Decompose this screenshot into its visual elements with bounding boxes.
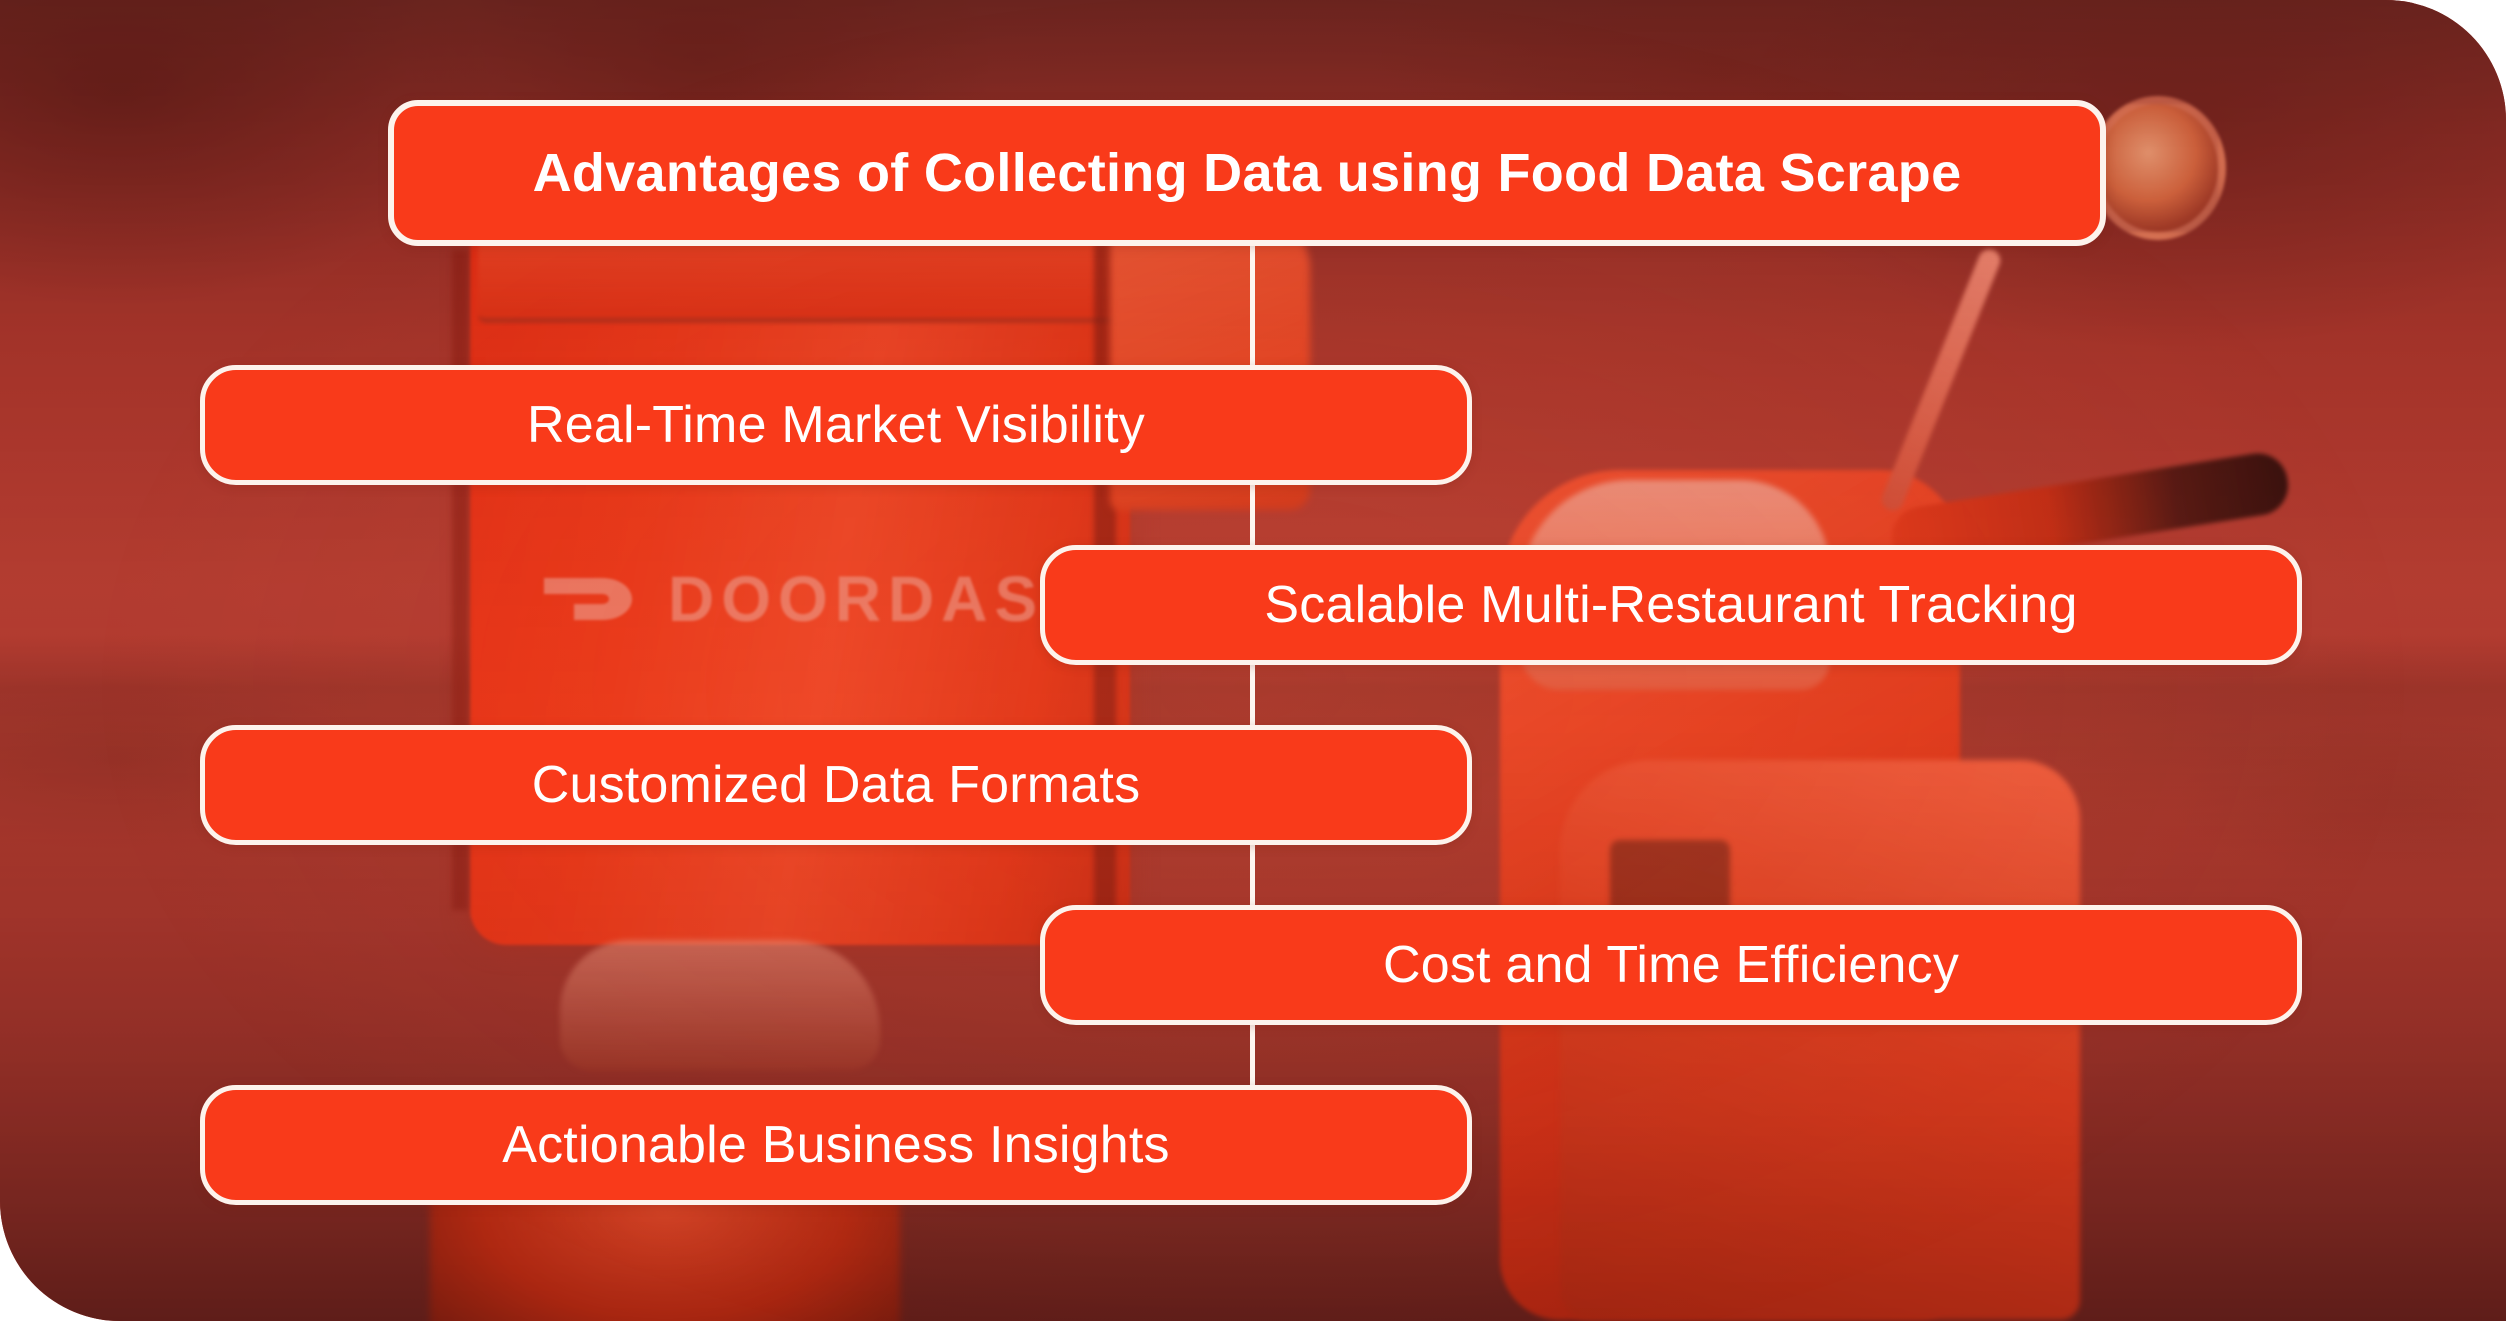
advantage-label-4: Cost and Time Efficiency [1383, 939, 1959, 991]
scooter-mirror [2090, 96, 2226, 240]
advantage-item-3[interactable]: Customized Data Formats [200, 725, 1472, 845]
scooter-mirror-arm [1878, 246, 2003, 514]
doordash-logo: DOORDASH [540, 562, 1097, 636]
doordash-wordmark: DOORDASH [668, 562, 1097, 636]
advantage-label-1: Real-Time Market Visibility [527, 399, 1145, 451]
advantage-item-1[interactable]: Real-Time Market Visibility [200, 365, 1472, 485]
advantage-label-5: Actionable Business Insights [502, 1119, 1170, 1171]
advantage-item-2[interactable]: Scalable Multi-Restaurant Tracking [1040, 545, 2302, 665]
advantage-item-4[interactable]: Cost and Time Efficiency [1040, 905, 2302, 1025]
advantage-label-2: Scalable Multi-Restaurant Tracking [1264, 579, 2077, 631]
infographic-title-box: Advantages of Collecting Data using Food… [388, 100, 2106, 246]
page-title: Advantages of Collecting Data using Food… [533, 146, 1962, 200]
advantage-label-3: Customized Data Formats [532, 759, 1141, 811]
advantage-item-5[interactable]: Actionable Business Insights [200, 1085, 1472, 1205]
infographic-canvas: DOORDASH Advantages of Collecting Data u… [0, 0, 2506, 1321]
scooter-footboard [560, 940, 880, 1070]
doordash-dash-icon [540, 568, 636, 630]
